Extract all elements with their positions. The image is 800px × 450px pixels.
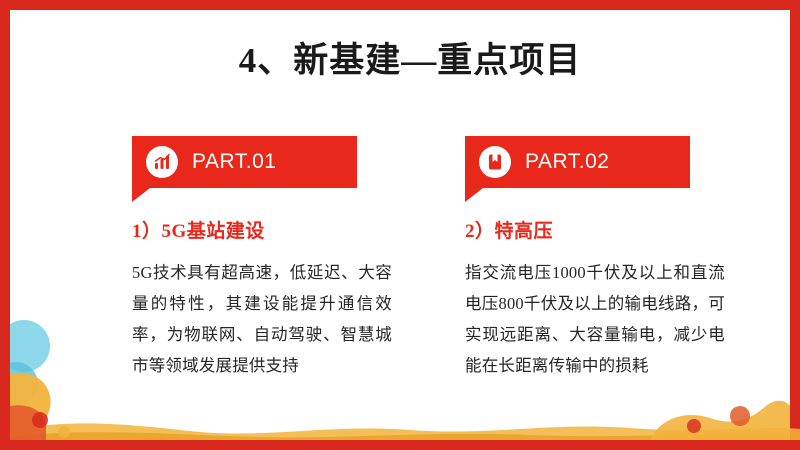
section-subtitle-2: 2）特高压 (465, 216, 755, 243)
slide-border-left (0, 0, 10, 450)
content-column-1: PART.01 1）5G基站建设 5G技术具有超高速，低延迟、大容量的特性，其建… (132, 136, 422, 381)
slide-border-top (0, 0, 800, 10)
section-body-2: 指交流电压1000千伏及以上和直流电压800千伏及以上的输电线路，可实现远距离、… (465, 257, 725, 381)
section-subtitle-1: 1）5G基站建设 (132, 216, 422, 243)
bookmark-icon (479, 146, 511, 178)
part-label-2: PART.02 (525, 150, 609, 174)
part-banner-2[interactable]: PART.02 (465, 136, 690, 188)
section-body-1: 5G技术具有超高速，低延迟、大容量的特性，其建设能提升通信效率，为物联网、自动驾… (132, 257, 392, 381)
page-title: 4、新基建—重点项目 (10, 32, 800, 83)
content-columns: PART.01 1）5G基站建设 5G技术具有超高速，低延迟、大容量的特性，其建… (10, 136, 800, 426)
part-label-1: PART.01 (192, 150, 276, 174)
slide: 4、新基建—重点项目 PART.01 1）5G基站建设 (0, 0, 800, 450)
slide-border-bottom (0, 440, 800, 450)
part-banner-1[interactable]: PART.01 (132, 136, 357, 188)
bar-chart-icon (146, 146, 178, 178)
slide-page: 4、新基建—重点项目 PART.01 1）5G基站建设 (10, 10, 790, 440)
content-column-2: PART.02 2）特高压 指交流电压1000千伏及以上和直流电压800千伏及以… (465, 136, 755, 381)
